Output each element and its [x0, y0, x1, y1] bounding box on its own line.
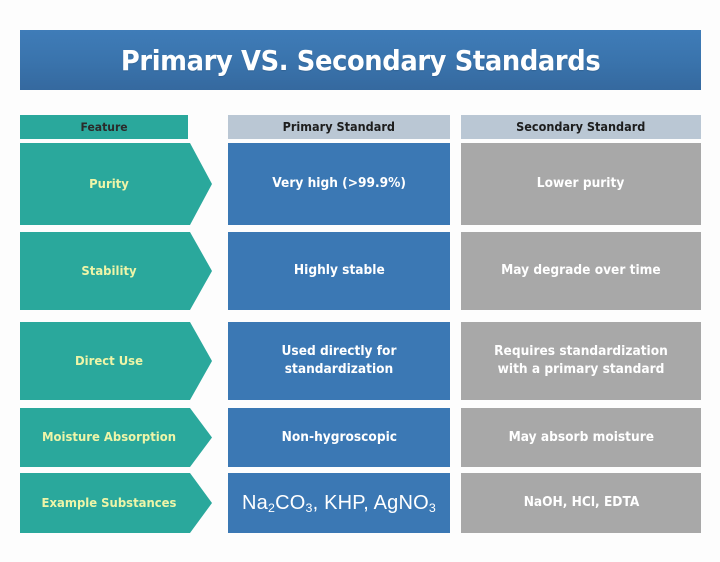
secondary-value: May degrade over time	[501, 262, 661, 280]
header-cell-feature: Feature	[20, 115, 188, 139]
feature-arrow: Moisture Absorption	[20, 408, 212, 467]
secondary-value: May absorb moisture	[508, 429, 653, 447]
secondary-value-cell: May absorb moisture	[461, 408, 701, 467]
table-row: Purity Very high (>99.9%) Lower purity	[0, 143, 720, 225]
feature-label: Stability	[34, 264, 185, 278]
primary-value: Na2CO3, KHP, AgNO3	[242, 490, 436, 517]
secondary-value-cell: Requires standardization with a primary …	[461, 322, 701, 400]
primary-value-cell: Used directly for standardization	[228, 322, 450, 400]
comparison-table: Feature Primary Standard Secondary Stand…	[0, 0, 720, 562]
header-cell-secondary: Secondary Standard	[461, 115, 701, 139]
table-row: Example Substances Na2CO3, KHP, AgNO3 Na…	[0, 473, 720, 533]
table-row: Stability Highly stable May degrade over…	[0, 232, 720, 310]
primary-value: Highly stable	[294, 262, 385, 280]
feature-arrow: Example Substances	[20, 473, 212, 533]
primary-value-cell: Very high (>99.9%)	[228, 143, 450, 225]
primary-value: Used directly for standardization	[264, 343, 414, 378]
secondary-value: Lower purity	[537, 175, 625, 193]
header-label-primary: Primary Standard	[283, 120, 395, 134]
feature-arrow: Purity	[20, 143, 212, 225]
secondary-value-cell: NaOH, HCl, EDTA	[461, 473, 701, 533]
header-cell-primary: Primary Standard	[228, 115, 450, 139]
header-label-feature: Feature	[80, 120, 127, 134]
feature-arrow: Stability	[20, 232, 212, 310]
header-label-secondary: Secondary Standard	[516, 120, 645, 134]
feature-label: Example Substances	[34, 496, 185, 510]
infographic-canvas: Primary VS. Secondary Standards Feature …	[0, 0, 720, 562]
table-row: Direct Use Used directly for standardiza…	[0, 322, 720, 400]
primary-value-cell: Non-hygroscopic	[228, 408, 450, 467]
table-row: Moisture Absorption Non-hygroscopic May …	[0, 408, 720, 467]
feature-label: Moisture Absorption	[34, 430, 185, 444]
feature-label: Purity	[34, 177, 185, 191]
feature-arrow: Direct Use	[20, 322, 212, 400]
secondary-value-cell: May degrade over time	[461, 232, 701, 310]
secondary-value: Requires standardization with a primary …	[487, 343, 675, 378]
secondary-value: NaOH, HCl, EDTA	[523, 494, 639, 512]
primary-value: Very high (>99.9%)	[272, 175, 406, 193]
primary-value-cell: Highly stable	[228, 232, 450, 310]
secondary-value-cell: Lower purity	[461, 143, 701, 225]
feature-label: Direct Use	[34, 354, 185, 368]
primary-value: Non-hygroscopic	[281, 429, 396, 447]
primary-value-cell: Na2CO3, KHP, AgNO3	[228, 473, 450, 533]
